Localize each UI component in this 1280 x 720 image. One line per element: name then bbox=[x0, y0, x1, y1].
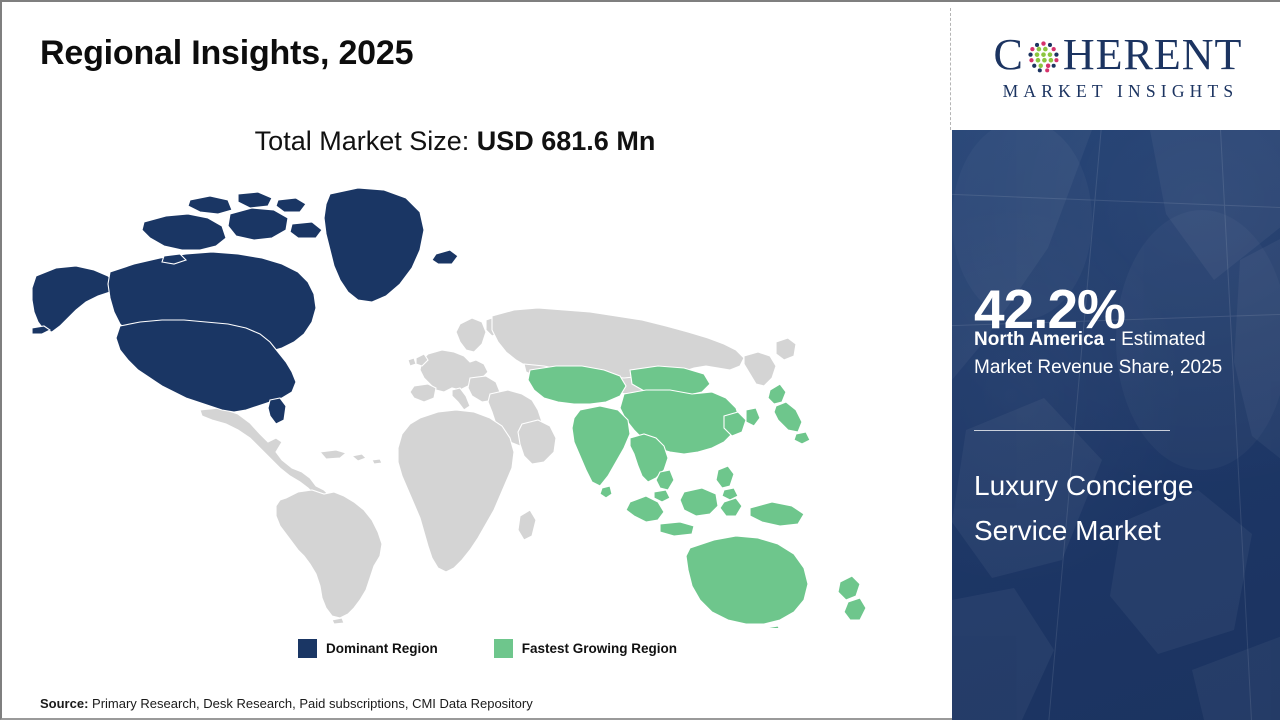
legend-swatch-green bbox=[494, 639, 513, 658]
stats-panel: 42.2% North America - Estimated Market R… bbox=[952, 130, 1280, 720]
coherent-market-insights-logo: C bbox=[968, 26, 1268, 108]
logo-tagline: MARKET INSIGHTS bbox=[998, 81, 1239, 102]
panel-divider-rule bbox=[974, 430, 1170, 431]
legend-label-dominant: Dominant Region bbox=[326, 641, 438, 656]
logo-letters-herent: HERENT bbox=[1063, 33, 1243, 77]
legend-item-dominant: Dominant Region bbox=[298, 639, 438, 658]
market-name: Luxury Concierge Service Market bbox=[974, 463, 1264, 554]
source-text: Primary Research, Desk Research, Paid su… bbox=[88, 696, 532, 711]
stat-region-name: North America bbox=[974, 329, 1104, 350]
source-label: Source: bbox=[40, 696, 88, 711]
market-size-label: Total Market Size: bbox=[255, 126, 477, 156]
world-map bbox=[24, 180, 884, 628]
market-size-value: USD 681.6 Mn bbox=[477, 126, 656, 156]
logo-wordmark: C bbox=[994, 33, 1243, 77]
page-title: Regional Insights, 2025 bbox=[40, 34, 413, 73]
legend-item-fastest-growing: Fastest Growing Region bbox=[494, 639, 677, 658]
logo-letter-c: C bbox=[994, 33, 1024, 77]
map-dominant-region-north-america bbox=[32, 188, 458, 424]
map-fastest-growing-region-asia-pacific bbox=[528, 366, 866, 628]
globe-icon bbox=[1025, 38, 1062, 75]
stat-description: North America - Estimated Market Revenue… bbox=[974, 326, 1266, 382]
map-legend: Dominant Region Fastest Growing Region bbox=[298, 639, 677, 658]
source-note: Source: Primary Research, Desk Research,… bbox=[40, 696, 533, 711]
panel-background-texture bbox=[952, 130, 1280, 720]
legend-swatch-navy bbox=[298, 639, 317, 658]
vertical-dashed-divider bbox=[950, 8, 951, 130]
left-content-pane: Regional Insights, 2025 Total Market Siz… bbox=[2, 2, 950, 718]
infographic-page: Regional Insights, 2025 Total Market Siz… bbox=[0, 0, 1280, 720]
legend-label-fastest-growing: Fastest Growing Region bbox=[522, 641, 677, 656]
total-market-size: Total Market Size: USD 681.6 Mn bbox=[2, 126, 908, 157]
